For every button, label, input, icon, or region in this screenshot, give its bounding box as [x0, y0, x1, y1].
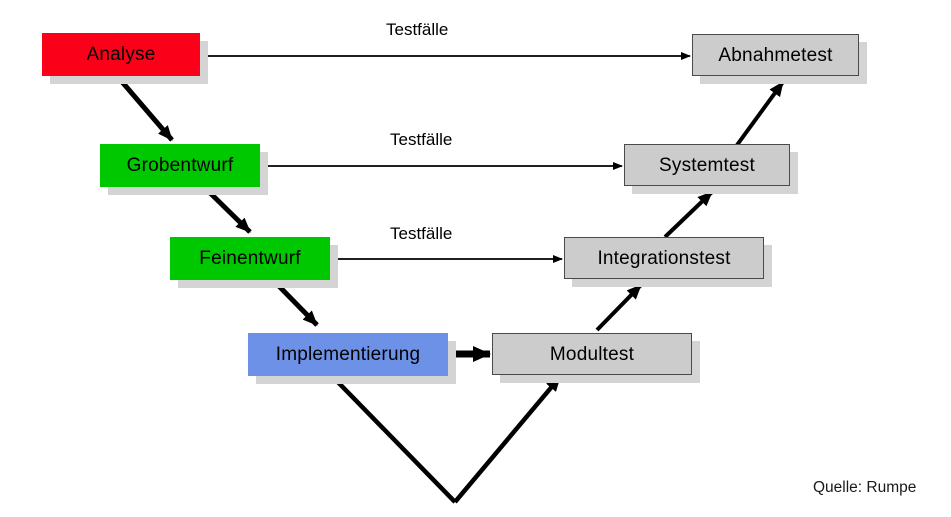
edge-label-testfaelle-2: Testfälle [390, 130, 452, 150]
edge-apex-modultest [455, 377, 560, 502]
node-integrationstest[interactable]: Integrationstest [564, 237, 764, 279]
node-grobentwurf[interactable]: Grobentwurf [100, 144, 260, 187]
v-model-diagram: Analyse Grobentwurf Feinentwurf Implemen… [0, 0, 951, 517]
node-analyse[interactable]: Analyse [42, 33, 200, 76]
source-note: Quelle: Rumpe [813, 479, 916, 497]
edge-label-testfaelle-1: Testfälle [386, 20, 448, 40]
node-abnahmetest[interactable]: Abnahmetest [692, 34, 859, 76]
node-abnahmetest-label: Abnahmetest [718, 46, 832, 65]
edge-label-testfaelle-3: Testfälle [390, 224, 452, 244]
node-systemtest-label: Systemtest [659, 156, 755, 175]
edge-modultest-integrationstest [597, 285, 641, 330]
node-feinentwurf-label: Feinentwurf [199, 249, 300, 268]
node-integrationstest-label: Integrationstest [597, 249, 730, 268]
edge-systemtest-abnahmetest [737, 82, 783, 145]
node-implementierung-label: Implementierung [276, 345, 421, 364]
node-analyse-label: Analyse [87, 45, 156, 64]
node-modultest[interactable]: Modultest [492, 333, 692, 375]
edge-integrationstest-systemtest [665, 192, 712, 237]
node-grobentwurf-label: Grobentwurf [127, 156, 234, 175]
node-systemtest[interactable]: Systemtest [624, 144, 790, 186]
node-feinentwurf[interactable]: Feinentwurf [170, 237, 330, 280]
node-implementierung[interactable]: Implementierung [248, 333, 448, 376]
node-modultest-label: Modultest [550, 345, 634, 364]
edge-implementierung-apex [331, 375, 455, 502]
edge-analyse-grobentwurf [117, 76, 172, 140]
